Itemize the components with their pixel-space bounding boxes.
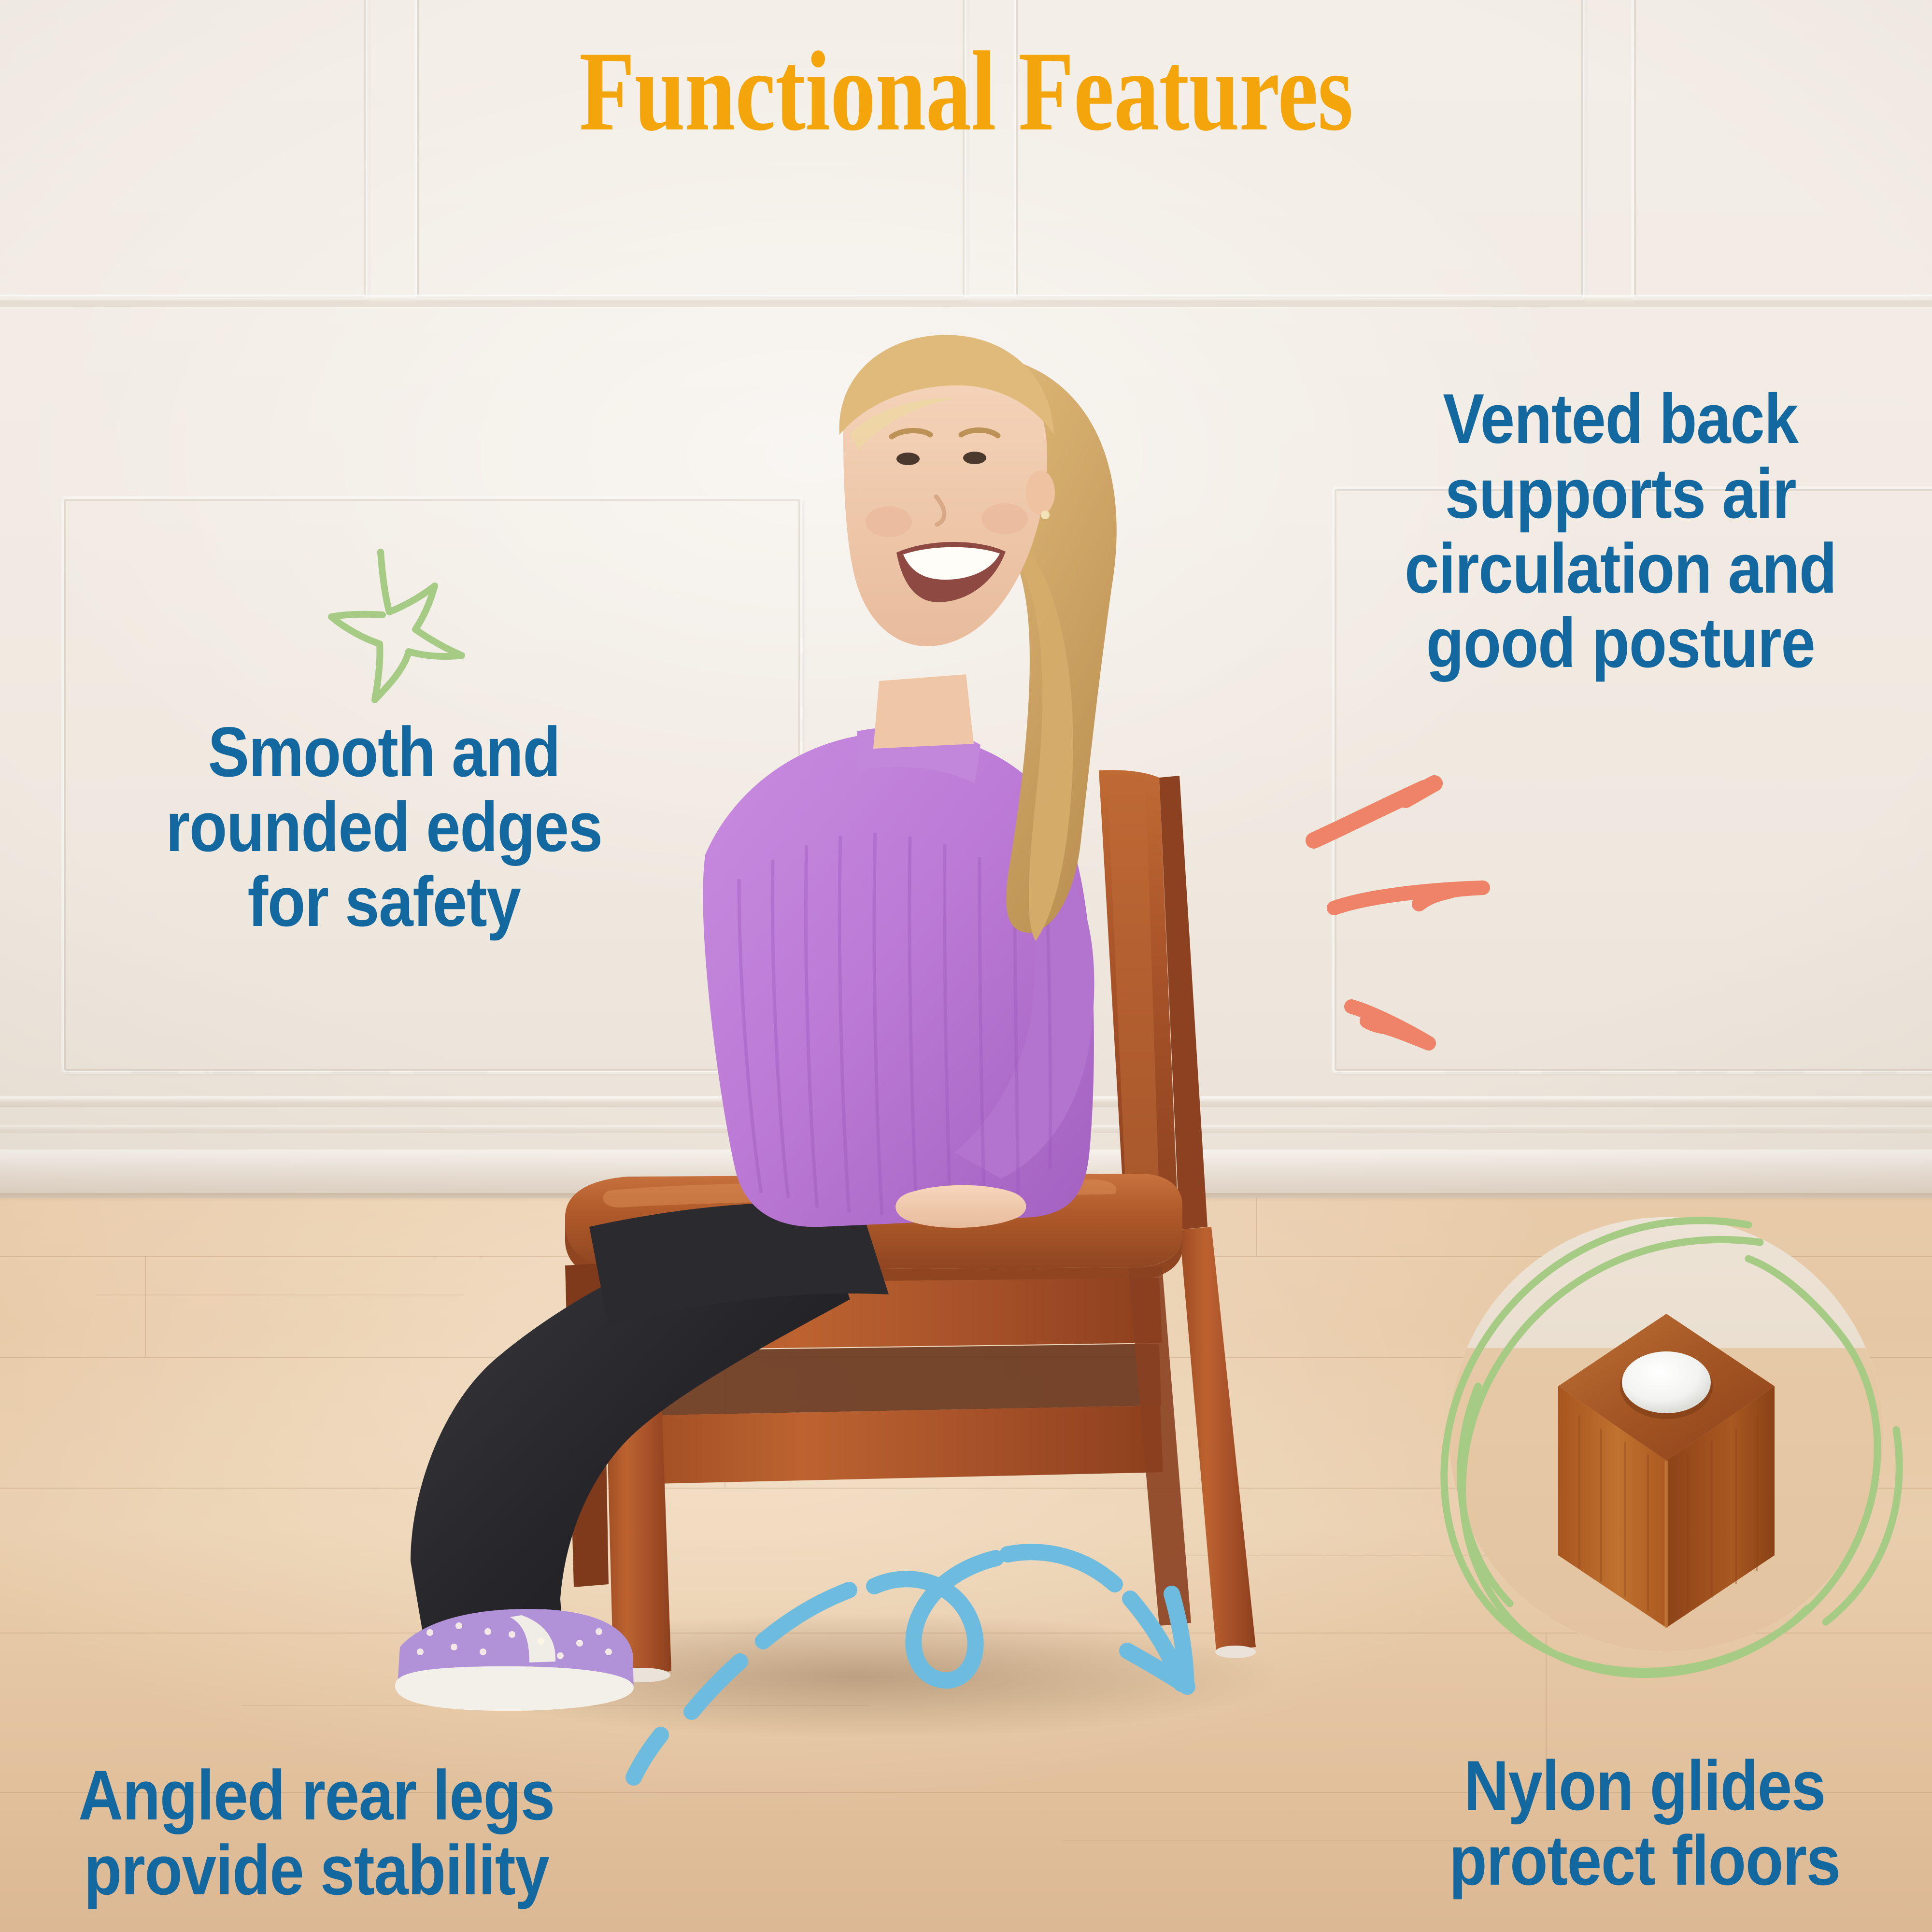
rear-leg-glide bbox=[1215, 1646, 1256, 1658]
callout-line: Nylon glides bbox=[1400, 1748, 1889, 1823]
callout-line: Smooth and bbox=[140, 715, 628, 790]
callout-smooth-edges: Smooth and rounded edges for safety bbox=[140, 715, 628, 939]
child-cheek bbox=[866, 506, 912, 537]
callout-angled-rear-legs: Angled rear legs provide stability bbox=[51, 1758, 582, 1908]
girl-on-chair-photo bbox=[338, 232, 1352, 1903]
callout-line: provide stability bbox=[51, 1833, 582, 1908]
infographic-canvas: Functional Features Vented back supports… bbox=[0, 0, 1932, 1932]
child-neck bbox=[873, 674, 974, 749]
chair-stretcher bbox=[609, 1406, 1163, 1485]
floor-plank-butt bbox=[145, 1256, 146, 1357]
child-cheek bbox=[981, 503, 1028, 534]
chair-leg-closeup bbox=[1521, 1294, 1811, 1633]
child-hand bbox=[895, 1185, 1026, 1228]
callout-nylon-glides: Nylon glides protect floors bbox=[1400, 1748, 1889, 1898]
callout-line: Vented back bbox=[1359, 382, 1882, 456]
child-ear bbox=[1026, 470, 1055, 515]
callout-line: supports air bbox=[1359, 456, 1882, 531]
callout-vented-back: Vented back supports air circulation and… bbox=[1359, 382, 1882, 681]
callout-line: Angled rear legs bbox=[51, 1758, 582, 1833]
callout-line: good posture bbox=[1359, 606, 1882, 681]
child-eye-right bbox=[963, 452, 986, 464]
callout-line: rounded edges bbox=[140, 790, 628, 865]
child-earring bbox=[1041, 511, 1050, 519]
callout-line: protect floors bbox=[1400, 1823, 1889, 1898]
callout-line: circulation and bbox=[1359, 531, 1882, 606]
page-title: Functional Features bbox=[193, 35, 1739, 149]
nylon-glide-cap bbox=[1622, 1351, 1711, 1413]
child-eye-left bbox=[896, 453, 920, 465]
nylon-glide-inset-photo bbox=[1449, 1217, 1884, 1652]
callout-line: for safety bbox=[140, 865, 628, 939]
chair-rear-leg bbox=[1179, 1227, 1256, 1651]
